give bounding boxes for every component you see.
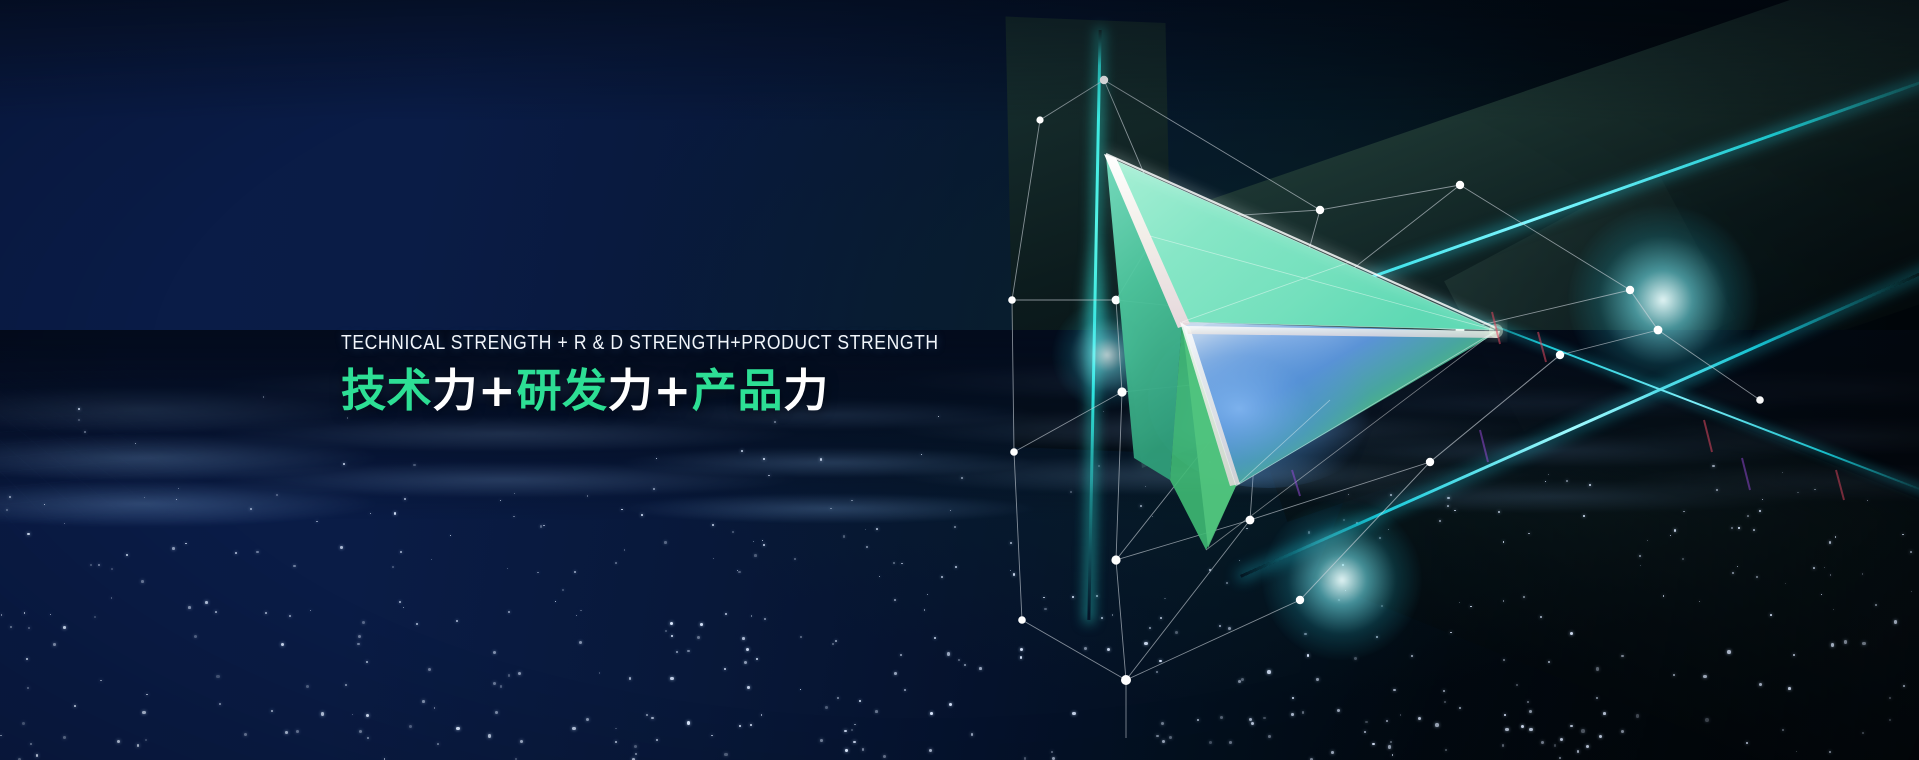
particle-dot bbox=[697, 636, 700, 639]
terrain-right-dimmer bbox=[1299, 330, 1919, 760]
particle-dot bbox=[1911, 591, 1913, 593]
particle-dot bbox=[366, 661, 368, 663]
particle-dot bbox=[64, 523, 66, 525]
particle-dot bbox=[894, 672, 897, 675]
particle-dot bbox=[921, 454, 922, 455]
particle-dot bbox=[1560, 738, 1563, 741]
particle-dot bbox=[293, 565, 295, 567]
particle-dot bbox=[1902, 534, 1903, 535]
particle-dot bbox=[359, 730, 362, 733]
particle-dot bbox=[1447, 497, 1449, 499]
particle-dot bbox=[676, 651, 679, 654]
particle-dot bbox=[1831, 643, 1835, 647]
particle-dot bbox=[1833, 609, 1834, 610]
particle-dot bbox=[1731, 527, 1733, 529]
particle-dot bbox=[843, 535, 846, 538]
lens-flare-left bbox=[1052, 300, 1162, 410]
particle-dot bbox=[500, 685, 502, 687]
particle-dot bbox=[1239, 560, 1240, 561]
particle-dot bbox=[321, 712, 324, 715]
particle-dot bbox=[687, 650, 690, 653]
particle-dot bbox=[656, 458, 657, 459]
particle-dot bbox=[185, 543, 187, 545]
particle-dot bbox=[1164, 598, 1165, 599]
particle-dot bbox=[370, 513, 371, 514]
terrain-ridge-3 bbox=[0, 434, 1919, 554]
particle-dot bbox=[1020, 656, 1023, 659]
particle-dot bbox=[768, 475, 770, 477]
particle-dot bbox=[1554, 744, 1557, 747]
particle-dot bbox=[100, 680, 102, 682]
particle-dot bbox=[1267, 670, 1271, 674]
particle-dot bbox=[1639, 555, 1641, 557]
beam-diagonal-lower bbox=[1240, 266, 1919, 578]
particle-dot bbox=[955, 566, 957, 568]
particle-dot bbox=[74, 705, 76, 707]
particle-dot bbox=[404, 498, 406, 500]
particle-dot bbox=[1072, 712, 1076, 716]
particle-dot bbox=[1596, 667, 1600, 671]
particle-dot bbox=[1596, 697, 1599, 700]
particle-dot bbox=[635, 753, 637, 755]
particle-dot bbox=[1345, 590, 1346, 591]
particle-dot bbox=[28, 627, 30, 629]
particle-dot bbox=[1209, 569, 1211, 571]
particle-dot bbox=[1400, 714, 1402, 716]
particle-dot bbox=[235, 552, 238, 555]
particle-dot bbox=[1889, 719, 1891, 721]
particle-dot bbox=[700, 623, 703, 626]
particle-dot bbox=[362, 621, 365, 624]
particle-dot bbox=[1220, 716, 1223, 719]
particle-dot bbox=[1112, 614, 1114, 616]
particle-dot bbox=[830, 508, 831, 509]
particle-dot bbox=[310, 610, 312, 612]
particle-dot bbox=[1548, 661, 1551, 664]
particle-dot bbox=[1570, 725, 1572, 727]
particle-dot bbox=[820, 739, 823, 742]
particle-dot bbox=[1529, 710, 1532, 713]
particle-dot bbox=[1682, 558, 1684, 560]
particle-dot bbox=[687, 721, 691, 725]
particle-dot bbox=[306, 685, 309, 688]
particle-dot bbox=[1586, 745, 1589, 748]
particle-dot bbox=[1566, 480, 1568, 482]
particle-dot bbox=[1103, 411, 1104, 412]
particle-dot bbox=[1459, 602, 1460, 603]
particle-dot bbox=[340, 546, 342, 548]
particle-dot bbox=[1862, 732, 1864, 734]
particle-dot bbox=[1044, 608, 1046, 610]
particle-dot bbox=[1443, 690, 1446, 693]
dark-slab-panel-diagonal-upper bbox=[1180, 0, 1919, 522]
particle-dot bbox=[1889, 697, 1891, 699]
particle-dot bbox=[30, 743, 32, 745]
particle-dot bbox=[63, 736, 66, 739]
particle-dot bbox=[1753, 529, 1755, 531]
particle-dot bbox=[900, 654, 902, 656]
particle-dot bbox=[1603, 712, 1606, 715]
particle-dot bbox=[1444, 701, 1447, 704]
particle-dot bbox=[137, 744, 140, 747]
particle-dot bbox=[1390, 494, 1392, 496]
particle-dot bbox=[1814, 489, 1816, 491]
particle-dot bbox=[1411, 655, 1413, 657]
particle-dot bbox=[615, 728, 617, 730]
particle-dot bbox=[949, 703, 952, 706]
particle-dot bbox=[289, 615, 291, 617]
particle-dot bbox=[746, 648, 749, 651]
particle-dot bbox=[1162, 740, 1165, 743]
particle-dot bbox=[1545, 481, 1546, 482]
particle-dot bbox=[53, 643, 56, 646]
particle-dot bbox=[876, 528, 878, 530]
particle-dot bbox=[413, 464, 415, 466]
particle-dot bbox=[508, 674, 511, 677]
particle-dot bbox=[22, 722, 25, 725]
particle-dot bbox=[1759, 683, 1762, 686]
particle-dot bbox=[36, 754, 39, 757]
particle-dot bbox=[78, 408, 80, 410]
particle-dot bbox=[1894, 620, 1897, 623]
particle-dot bbox=[761, 714, 763, 716]
particle-dot bbox=[1209, 461, 1211, 463]
particle-dot bbox=[456, 620, 458, 622]
particle-dot bbox=[724, 753, 727, 756]
particle-dot bbox=[924, 609, 925, 610]
particle-dot bbox=[1910, 551, 1912, 553]
top-fade-overlay bbox=[0, 0, 1919, 120]
particle-dot bbox=[1673, 674, 1676, 677]
particle-dot bbox=[144, 497, 146, 499]
particle-dot bbox=[1521, 725, 1524, 728]
particle-dot bbox=[1583, 515, 1585, 517]
particle-dot bbox=[1263, 717, 1265, 719]
particle-dot bbox=[854, 724, 856, 726]
particle-dot bbox=[747, 686, 750, 689]
particle-dot bbox=[515, 758, 517, 760]
particle-dot bbox=[1144, 642, 1147, 645]
particle-dot bbox=[495, 711, 498, 714]
particle-dot bbox=[1096, 595, 1098, 597]
particle-dot bbox=[205, 601, 208, 604]
particle-dot bbox=[615, 562, 617, 564]
particle-dot bbox=[316, 521, 318, 523]
particle-dot bbox=[1621, 655, 1624, 658]
particle-dot bbox=[1435, 723, 1439, 727]
particle-dot bbox=[621, 509, 622, 510]
particle-dot bbox=[1156, 735, 1158, 737]
particle-dot bbox=[754, 554, 757, 557]
particle-dot bbox=[1498, 511, 1500, 513]
particle-dot bbox=[1316, 678, 1318, 680]
particle-dot bbox=[26, 658, 28, 660]
particle-dot bbox=[599, 672, 601, 674]
particle-dot bbox=[1051, 751, 1053, 753]
particle-dot bbox=[1759, 510, 1761, 512]
particle-dot bbox=[543, 525, 545, 527]
particle-dot bbox=[1862, 573, 1864, 575]
particle-dot bbox=[1793, 654, 1796, 657]
particle-dot bbox=[1098, 465, 1100, 467]
particle-dot bbox=[1737, 566, 1738, 567]
particle-dot bbox=[1835, 536, 1837, 538]
particle-dot bbox=[820, 458, 823, 461]
particle-dot bbox=[893, 562, 895, 564]
particle-dot bbox=[901, 563, 903, 565]
particle-dot bbox=[741, 450, 743, 452]
particle-dot bbox=[1107, 648, 1111, 652]
particle-dot bbox=[141, 580, 144, 583]
particle-dot bbox=[1683, 511, 1684, 512]
particle-dot bbox=[437, 743, 439, 745]
particle-dot bbox=[117, 740, 121, 744]
particle-dot bbox=[1072, 596, 1074, 598]
particle-dot bbox=[219, 703, 221, 705]
particle-dot bbox=[634, 745, 637, 748]
particle-dot bbox=[1797, 492, 1799, 494]
particle-dot bbox=[90, 564, 92, 566]
particle-dot bbox=[1379, 537, 1381, 539]
particle-dot bbox=[762, 540, 763, 541]
particle-dot bbox=[392, 566, 394, 568]
beam-diagonal-upper bbox=[1175, 45, 1919, 348]
hero-headline: 技术力+研发力+产品力 bbox=[341, 364, 1061, 419]
particle-dot bbox=[756, 658, 758, 660]
particle-dot bbox=[670, 622, 674, 626]
particle-dot bbox=[572, 727, 576, 731]
particle-dot bbox=[296, 730, 299, 733]
particle-dot bbox=[1010, 570, 1011, 571]
particle-dot bbox=[78, 419, 80, 421]
particle-dot bbox=[1523, 596, 1526, 599]
particle-dot bbox=[862, 748, 865, 751]
particle-dot bbox=[27, 687, 29, 689]
lens-flare-bottom bbox=[1262, 500, 1422, 660]
particle-dot bbox=[1502, 744, 1505, 747]
particle-dot bbox=[1308, 531, 1311, 534]
particle-dot bbox=[1756, 576, 1757, 577]
particle-dot bbox=[1376, 636, 1378, 638]
particle-dot bbox=[1356, 522, 1358, 524]
particle-dot bbox=[172, 547, 175, 550]
dark-slab-panel-diagonal-lower bbox=[1313, 300, 1919, 760]
particle-dot bbox=[1727, 650, 1731, 654]
particle-dot bbox=[774, 421, 775, 422]
particle-dot bbox=[520, 740, 523, 743]
particle-dot bbox=[456, 727, 459, 730]
particle-dot bbox=[1354, 657, 1357, 660]
particle-dot bbox=[835, 640, 837, 642]
particle-dot bbox=[1388, 745, 1392, 749]
particle-dot bbox=[508, 611, 511, 614]
particle-dot bbox=[711, 735, 713, 737]
particle-dot bbox=[1084, 647, 1088, 651]
particle-dot bbox=[883, 755, 886, 758]
particle-dot bbox=[0, 735, 2, 737]
particle-dot bbox=[10, 626, 12, 628]
headline-segment-0: 技术 bbox=[341, 364, 432, 417]
particle-dot bbox=[6, 509, 8, 511]
particle-dot bbox=[493, 651, 496, 654]
particle-dot bbox=[737, 570, 739, 572]
particle-dot bbox=[1762, 499, 1763, 500]
particle-dot bbox=[281, 643, 284, 646]
particle-dot bbox=[1559, 757, 1562, 760]
particle-dot bbox=[1043, 597, 1045, 599]
particle-dot bbox=[1386, 720, 1388, 722]
particle-dot bbox=[615, 741, 617, 743]
hero-banner: TECHNICAL STRENGTH + R & D STRENGTH+PROD… bbox=[0, 0, 1919, 760]
particle-dot bbox=[1338, 599, 1340, 601]
particle-dot bbox=[964, 664, 966, 666]
particle-dot bbox=[1392, 754, 1394, 756]
particle-dot bbox=[178, 488, 179, 489]
particle-dot bbox=[1747, 515, 1749, 517]
particle-dot bbox=[629, 677, 632, 680]
particle-dot bbox=[580, 610, 582, 612]
particle-dot bbox=[44, 504, 45, 505]
particle-dot bbox=[1703, 675, 1707, 679]
particle-dot bbox=[979, 667, 982, 670]
particle-dot bbox=[624, 549, 626, 551]
particle-dot bbox=[1101, 617, 1103, 619]
particle-dot bbox=[366, 714, 369, 717]
particle-dot bbox=[358, 635, 361, 638]
particle-dot bbox=[271, 710, 273, 712]
particle-dot bbox=[1307, 654, 1310, 657]
particle-dot bbox=[750, 724, 752, 726]
particle-dot bbox=[1541, 741, 1545, 745]
particle-dot bbox=[763, 544, 765, 546]
particle-dot bbox=[285, 731, 288, 734]
particle-dot bbox=[724, 668, 727, 671]
particle-dot bbox=[263, 396, 264, 397]
particle-dot bbox=[500, 500, 501, 501]
particle-dot bbox=[400, 551, 402, 553]
particle-dot bbox=[753, 541, 755, 543]
particle-dot bbox=[1788, 687, 1791, 690]
dark-slab-panel-middle bbox=[1444, 169, 1736, 432]
particle-dot bbox=[514, 493, 515, 494]
particle-dot bbox=[961, 477, 963, 479]
particle-dot bbox=[1699, 601, 1700, 602]
particle-dot bbox=[1716, 489, 1719, 492]
particle-dot bbox=[1527, 701, 1529, 703]
particle-dot bbox=[1145, 486, 1147, 488]
particle-dot bbox=[665, 630, 667, 632]
particle-dot bbox=[194, 635, 198, 639]
particle-dot bbox=[1813, 567, 1815, 569]
particle-dot bbox=[1342, 564, 1345, 567]
particle-dot bbox=[394, 512, 396, 514]
particle-dot bbox=[586, 718, 589, 721]
particle-dot bbox=[1070, 491, 1073, 494]
particle-dot bbox=[1241, 678, 1244, 681]
particle-dot bbox=[63, 626, 66, 629]
particle-dot bbox=[357, 643, 359, 645]
headline-segment-6: 产品 bbox=[692, 364, 783, 417]
particle-dot bbox=[1647, 540, 1648, 541]
beam-vertical-glow bbox=[1070, 200, 1122, 430]
particle-dot bbox=[1292, 697, 1294, 699]
particle-dot bbox=[493, 682, 496, 685]
particle-dot bbox=[1152, 516, 1153, 517]
particle-dot bbox=[1504, 714, 1506, 716]
particle-dot bbox=[1770, 614, 1772, 616]
particle-dot bbox=[1570, 632, 1573, 635]
particle-dot bbox=[713, 558, 714, 559]
particle-dot bbox=[664, 541, 666, 543]
headline-segment-1: 力 bbox=[432, 364, 478, 417]
particle-dot bbox=[513, 516, 515, 518]
particle-dot bbox=[1785, 583, 1786, 584]
hero-eyebrow-text: TECHNICAL STRENGTH + R & D STRENGTH+PROD… bbox=[341, 331, 957, 356]
particle-dot bbox=[1304, 633, 1306, 635]
particle-dot bbox=[265, 612, 267, 614]
particle-dot bbox=[434, 707, 436, 709]
particle-dot bbox=[1824, 567, 1825, 568]
particle-dot bbox=[1782, 729, 1784, 731]
headline-segment-7: 力 bbox=[783, 364, 829, 417]
particle-dot bbox=[764, 618, 766, 620]
particle-dot bbox=[1159, 660, 1162, 663]
particle-dot bbox=[832, 643, 834, 645]
particle-dot bbox=[1640, 565, 1641, 566]
particle-dot bbox=[416, 623, 418, 625]
particle-dot bbox=[800, 689, 802, 691]
particle-dot bbox=[825, 706, 828, 709]
particle-dot bbox=[1337, 709, 1340, 712]
particle-dot bbox=[1447, 505, 1449, 507]
particle-dot bbox=[1445, 749, 1447, 751]
particle-dot bbox=[1450, 632, 1452, 634]
particle-dot bbox=[555, 601, 557, 603]
particle-dot bbox=[540, 525, 542, 527]
particle-dot bbox=[1712, 465, 1714, 467]
particle-dot bbox=[1663, 595, 1665, 597]
particle-dot bbox=[1381, 605, 1383, 607]
particle-dot bbox=[927, 594, 928, 595]
particle-dot bbox=[1830, 574, 1832, 576]
particle-dot bbox=[576, 615, 577, 616]
particle-dot bbox=[409, 725, 412, 728]
particle-dot bbox=[763, 458, 764, 459]
particle-dot bbox=[958, 659, 960, 661]
particle-dot bbox=[84, 431, 86, 433]
particle-dot bbox=[879, 576, 880, 577]
particle-dot bbox=[1249, 718, 1252, 721]
particle-dot bbox=[1599, 735, 1602, 738]
particle-dot bbox=[1581, 729, 1585, 733]
particle-dot bbox=[800, 636, 802, 638]
particle-dot bbox=[1209, 741, 1212, 744]
headline-segment-4: 力 bbox=[608, 364, 654, 417]
particle-dot bbox=[111, 597, 113, 599]
particle-dot bbox=[653, 488, 655, 490]
particle-dot bbox=[1229, 741, 1232, 744]
particle-dot bbox=[947, 652, 951, 656]
particle-dot bbox=[1140, 505, 1142, 507]
particle-dot bbox=[851, 729, 853, 731]
particle-dot bbox=[1503, 541, 1505, 543]
particle-dot bbox=[126, 554, 128, 556]
particle-dot bbox=[1390, 741, 1392, 743]
particle-dot bbox=[215, 611, 217, 613]
particle-dot bbox=[1796, 751, 1798, 753]
particle-dot bbox=[1454, 510, 1455, 511]
particle-dot bbox=[1670, 535, 1671, 536]
